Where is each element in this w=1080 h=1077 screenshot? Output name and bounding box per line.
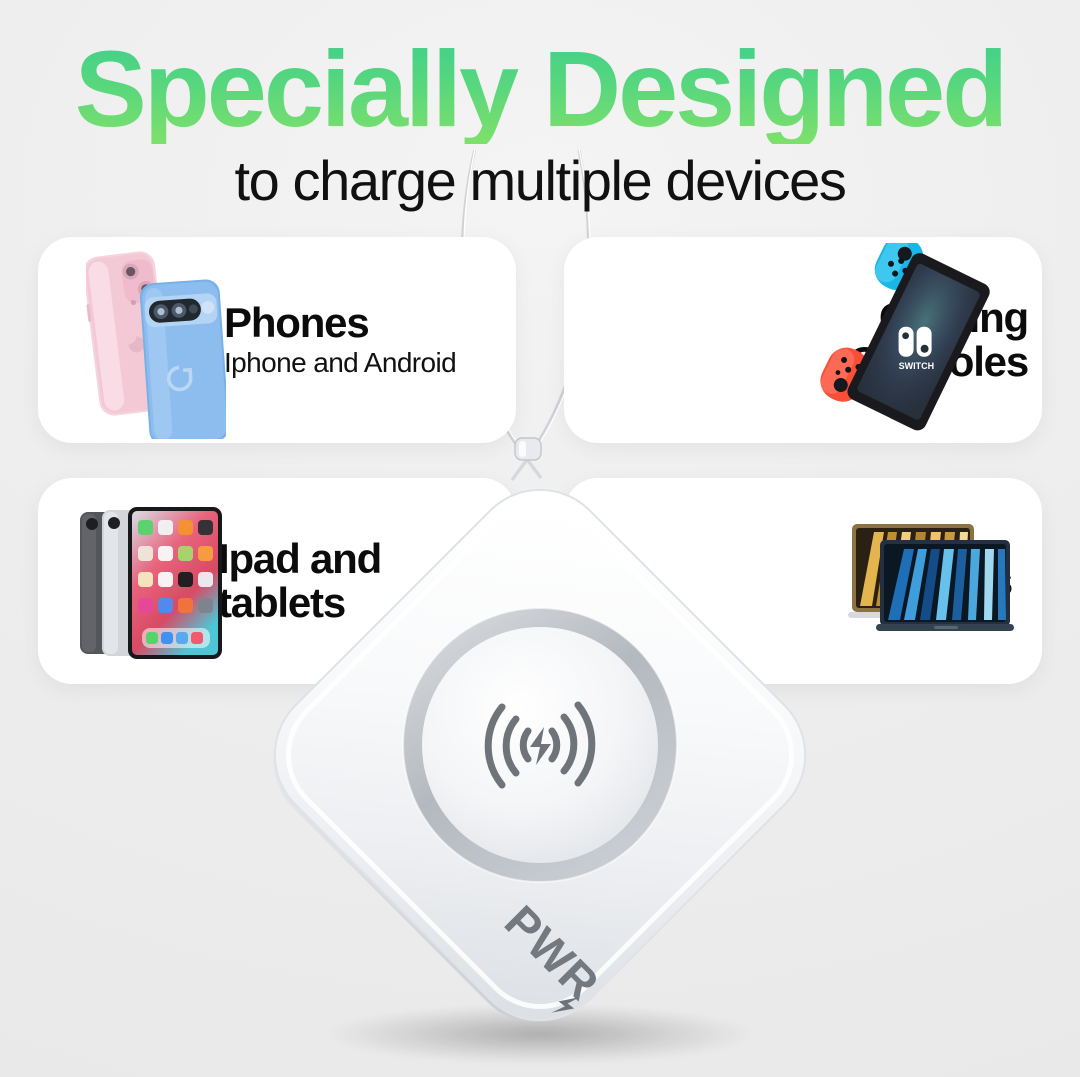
two-laptops-icon <box>838 516 1018 636</box>
card-phones[interactable]: Phones Iphone and Android <box>38 237 516 443</box>
headline-block: Specially Designed to charge multiple de… <box>0 34 1080 213</box>
svg-text:SWITCH: SWITCH <box>899 361 935 371</box>
two-phones-icon <box>86 239 226 439</box>
page-subtitle: to charge multiple devices <box>0 148 1080 213</box>
card-phones-subtitle: Iphone and Android <box>224 347 456 379</box>
game-console-icon: SWITCH <box>810 243 1020 437</box>
wireless-charger[interactable]: PWR <box>240 455 840 1055</box>
card-phones-title: Phones <box>224 301 456 345</box>
page-title: Specially Designed <box>0 34 1080 144</box>
tablet-stack-icon <box>76 502 226 662</box>
card-phones-text: Phones Iphone and Android <box>224 301 456 379</box>
card-gaming-consoles[interactable]: Gaming Consoles SWITCH <box>564 237 1042 443</box>
